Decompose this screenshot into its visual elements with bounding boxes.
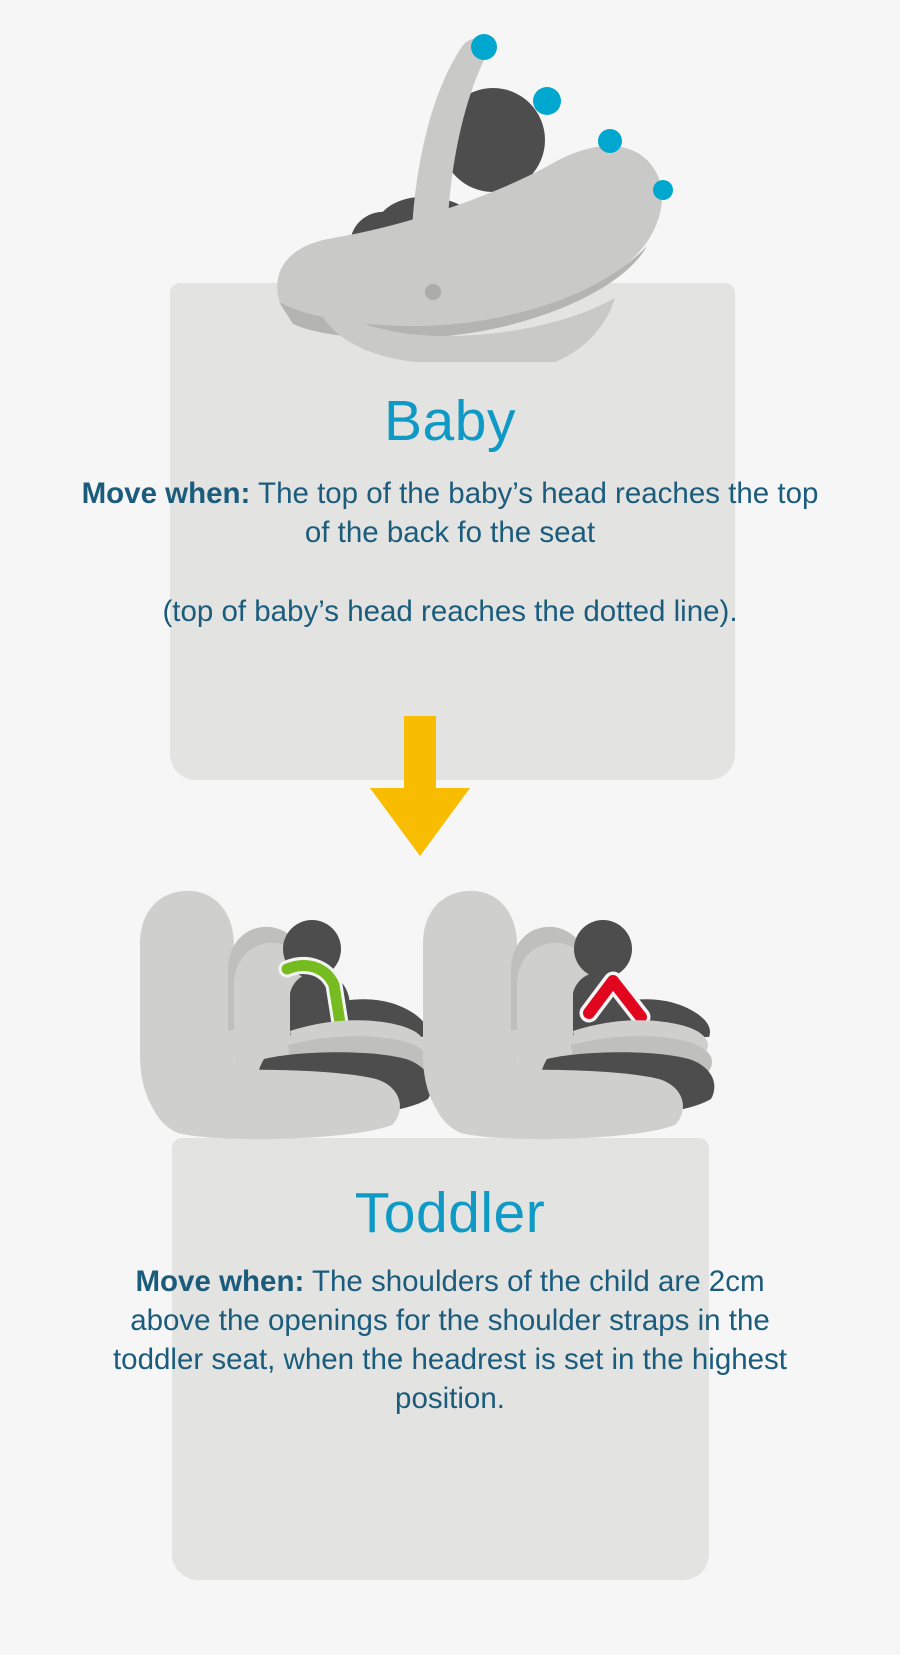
baby-move-when-label: Move when: — [82, 477, 251, 510]
cyan-dot-3 — [598, 129, 622, 153]
down-arrow-icon — [370, 716, 470, 856]
cyan-dot-1 — [471, 34, 497, 60]
toddler-move-when-text: Move when: The shoulders of the child ar… — [0, 1262, 900, 1418]
toddler-heading: Toddler — [0, 1185, 900, 1242]
baby-move-when-detail: The top of the baby’s head reaches the t… — [250, 477, 818, 549]
baby-move-when-text: Move when: The top of the baby’s head re… — [0, 474, 900, 552]
infographic-root: Baby Move when: The top of the baby’s he… — [0, 0, 900, 1655]
toddler-seat-correct-illustration — [130, 845, 440, 1145]
baby-heading: Baby — [0, 393, 900, 450]
cyan-dot-2 — [533, 87, 561, 115]
toddler-seat-incorrect-illustration — [413, 845, 723, 1145]
toddler-move-when-label: Move when: — [135, 1265, 304, 1298]
infant-carrier-illustration — [255, 10, 705, 365]
cyan-dot-4 — [653, 180, 673, 200]
baby-note-text: (top of baby’s head reaches the dotted l… — [0, 592, 900, 631]
